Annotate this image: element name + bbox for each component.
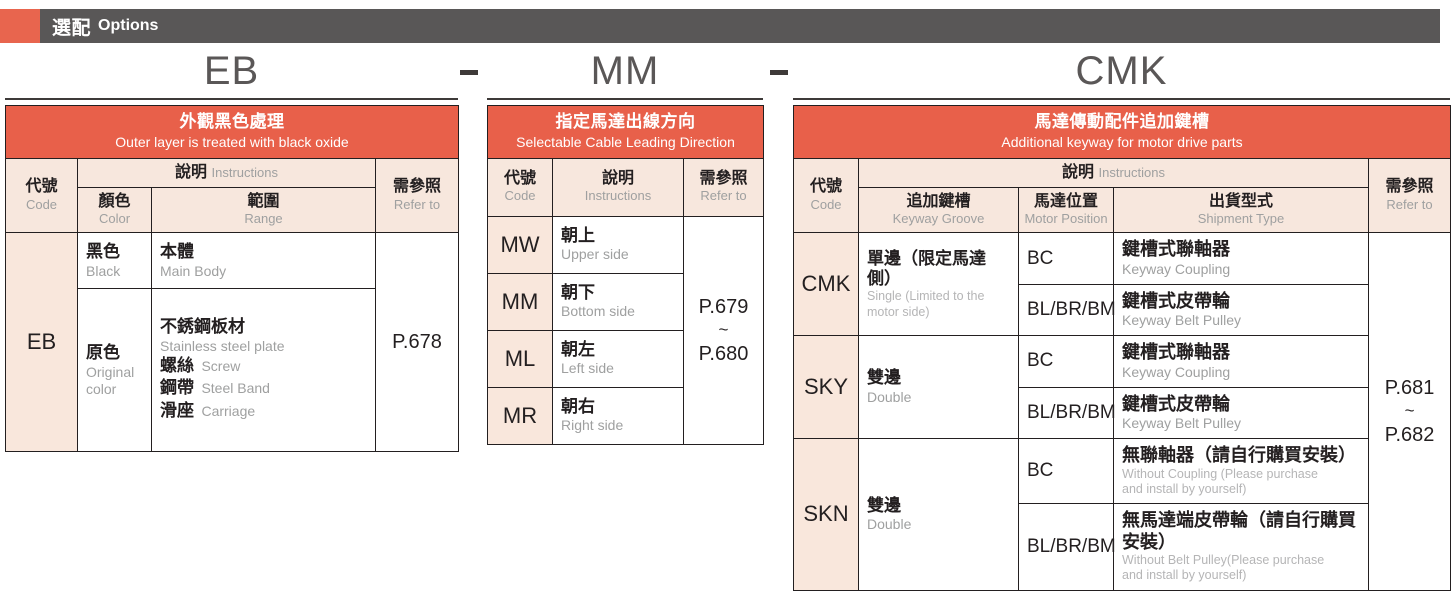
col-header-color: 顏色 Color xyxy=(78,188,152,233)
col-header-instructions-cjk: 說明 xyxy=(1062,164,1094,181)
table-cmk-header-en: Additional keyway for motor drive parts xyxy=(798,134,1446,150)
table-row: MW 朝上 Upper side P.679 ~ P.680 xyxy=(488,216,764,273)
range-item-cjk: 滑座 xyxy=(160,401,194,420)
cell-direction-bottom-en: Bottom side xyxy=(561,303,675,320)
cell-shipment-type-cjk: 鍵槽式皮帶輪 xyxy=(1122,394,1360,416)
cell-keyway-skn-en: Double xyxy=(867,516,1010,533)
cell-motor-position: BC xyxy=(1019,336,1114,387)
col-header-refer: 需參照 Refer to xyxy=(1369,158,1451,233)
cell-direction-right: 朝右 Right side xyxy=(553,387,684,444)
col-header-code-en: Code xyxy=(797,198,855,213)
col-header-color-cjk: 顏色 xyxy=(81,193,148,211)
code-title-row: EB MM CMK xyxy=(0,48,1454,100)
col-header-instructions: 說明 Instructions xyxy=(859,158,1369,187)
cell-shipment-type-en: Keyway Belt Pulley xyxy=(1122,415,1360,432)
table-cmk-main-header: 馬達傳動配件追加鍵槽 Additional keyway for motor d… xyxy=(794,106,1451,159)
range-item: 不銹鋼板材 Stainless steel plate xyxy=(160,317,367,354)
cell-color-black-en: Black xyxy=(86,263,143,280)
cell-shipment-type-en2: and install by yourself) xyxy=(1122,482,1360,497)
cell-code-mw: MW xyxy=(488,216,553,273)
cell-color-original-en2: color xyxy=(86,381,143,398)
cell-shipment-type-cjk: 無聯軸器（請自行購買安裝） xyxy=(1122,445,1360,467)
cell-direction-upper-en: Upper side xyxy=(561,246,675,263)
cell-color-black: 黑色 Black xyxy=(78,233,152,289)
col-header-instructions: 說明 Instructions xyxy=(78,158,376,187)
col-header-refer-en: Refer to xyxy=(1372,198,1447,213)
col-header-code: 代號 Code xyxy=(794,158,859,233)
cell-color-original-cjk: 原色 xyxy=(86,343,143,363)
col-header-refer-en: Refer to xyxy=(687,189,760,204)
cell-direction-bottom: 朝下 Bottom side xyxy=(553,273,684,330)
cell-direction-right-cjk: 朝右 xyxy=(561,397,675,417)
cell-keyway-sky: 雙邊 Double xyxy=(859,336,1019,439)
cell-keyway-cmk-cjk: 單邊（限定馬達側） xyxy=(867,249,1010,290)
cell-direction-bottom-cjk: 朝下 xyxy=(561,283,675,303)
cell-motor-position: BL/BR/BM xyxy=(1019,387,1114,438)
table-row: EB 黑色 Black 本體 Main Body P.678 xyxy=(6,233,459,289)
cell-refer-cmk-tilde: ~ xyxy=(1369,400,1450,423)
col-header-shipment-type-en: Shipment Type xyxy=(1117,212,1365,227)
banner-accent-block xyxy=(0,9,40,43)
col-header-instructions-cjk: 說明 xyxy=(175,164,207,181)
col-header-range-en: Range xyxy=(155,212,372,227)
range-item-cjk: 鋼帶 xyxy=(160,378,194,397)
table-row: 外觀黑色處理 Outer layer is treated with black… xyxy=(6,106,459,159)
code-title-eb-text: EB xyxy=(204,51,259,91)
table-eb-header-cjk: 外觀黑色處理 xyxy=(10,112,454,132)
col-header-code: 代號 Code xyxy=(488,158,553,216)
cell-keyway-sky-cjk: 雙邊 xyxy=(867,368,1010,388)
cell-keyway-cmk: 單邊（限定馬達側） Single (Limited to the motor s… xyxy=(859,233,1019,336)
cell-keyway-skn: 雙邊 Double xyxy=(859,438,1019,590)
cell-shipment-type-cjk: 鍵槽式聯軸器 xyxy=(1122,342,1360,364)
table-row: 代號 Code 說明 Instructions 需參照 Refer to xyxy=(794,158,1451,187)
cell-shipment-type: 鍵槽式皮帶輪 Keyway Belt Pulley xyxy=(1114,387,1369,438)
cell-refer-cmk: P.681 ~ P.682 xyxy=(1369,233,1451,590)
cell-shipment-type-cjk: 鍵槽式聯軸器 xyxy=(1122,239,1360,261)
cell-color-original-en: Original xyxy=(86,364,143,381)
cell-direction-left: 朝左 Left side xyxy=(553,330,684,387)
cell-range-main-body: 本體 Main Body xyxy=(152,233,376,289)
code-title-eb: EB xyxy=(5,48,458,100)
table-mm-header-en: Selectable Cable Leading Direction xyxy=(492,134,759,150)
cell-refer-cmk-line1: P.681 xyxy=(1369,376,1450,400)
col-header-instructions-cjk: 說明 xyxy=(556,170,680,188)
cell-shipment-type: 鍵槽式聯軸器 Keyway Coupling xyxy=(1114,336,1369,387)
table-eb: 外觀黑色處理 Outer layer is treated with black… xyxy=(5,105,459,452)
cell-direction-left-en: Left side xyxy=(561,360,675,377)
col-header-keyway-groove-en: Keyway Groove xyxy=(862,212,1015,227)
table-row: 追加鍵槽 Keyway Groove 馬達位置 Motor Position 出… xyxy=(794,188,1451,233)
cell-shipment-type-en: Keyway Belt Pulley xyxy=(1122,312,1360,329)
col-header-instructions: 說明 Instructions xyxy=(553,158,684,216)
banner-bar xyxy=(40,9,1440,43)
range-item-en: Carriage xyxy=(201,403,255,419)
cell-keyway-cmk-en: Single (Limited to the xyxy=(867,289,1010,304)
options-banner: 選配 Options xyxy=(0,9,1440,43)
cell-motor-position: BL/BR/BM xyxy=(1019,504,1114,591)
cell-code-ml: ML xyxy=(488,330,553,387)
range-item: 滑座 Carriage xyxy=(160,400,367,423)
range-item-cjk: 螺絲 xyxy=(160,356,194,375)
table-eb-main-header: 外觀黑色處理 Outer layer is treated with black… xyxy=(6,106,459,159)
col-header-shipment-type-cjk: 出貨型式 xyxy=(1117,193,1365,211)
code-title-mm-text: MM xyxy=(591,51,660,91)
cell-shipment-type-en: Keyway Coupling xyxy=(1122,364,1360,381)
col-header-refer-en: Refer to xyxy=(379,198,455,213)
col-header-keyway-groove-cjk: 追加鍵槽 xyxy=(862,193,1015,211)
cell-motor-position: BC xyxy=(1019,233,1114,284)
cell-code-mm: MM xyxy=(488,273,553,330)
col-header-refer: 需參照 Refer to xyxy=(684,158,764,216)
cell-direction-upper-cjk: 朝上 xyxy=(561,226,675,246)
cell-keyway-cmk-en2: motor side) xyxy=(867,305,1010,320)
cell-code-mr: MR xyxy=(488,387,553,444)
table-row: 馬達傳動配件追加鍵槽 Additional keyway for motor d… xyxy=(794,106,1451,159)
col-header-instructions-en: Instructions xyxy=(1098,165,1164,180)
cell-refer-mm-line1: P.679 xyxy=(684,295,763,319)
cell-shipment-type-cjk: 無馬達端皮帶輪（請自行購買安裝） xyxy=(1122,510,1360,553)
banner-title: 選配 Options xyxy=(52,9,158,43)
col-header-range: 範圍 Range xyxy=(152,188,376,233)
col-header-code: 代號 Code xyxy=(6,158,78,233)
col-header-keyway-groove: 追加鍵槽 Keyway Groove xyxy=(859,188,1019,233)
cell-shipment-type-en: Without Coupling (Please purchase xyxy=(1122,467,1360,482)
col-header-color-en: Color xyxy=(81,212,148,227)
cell-color-original: 原色 Original color xyxy=(78,289,152,452)
cell-refer-mm-line2: P.680 xyxy=(684,342,763,366)
table-cmk-header-cjk: 馬達傳動配件追加鍵槽 xyxy=(798,112,1446,132)
col-header-code-en: Code xyxy=(491,189,549,204)
cell-refer-cmk-line2: P.682 xyxy=(1369,423,1450,447)
table-eb-header-en: Outer layer is treated with black oxide xyxy=(10,134,454,150)
col-header-motor-position-en: Motor Position xyxy=(1022,212,1110,227)
separator-dash-2 xyxy=(770,70,788,75)
cell-keyway-sky-en: Double xyxy=(867,389,1010,406)
table-row: 代號 Code 說明 Instructions 需參照 Refer to xyxy=(488,158,764,216)
cell-shipment-type-cjk: 鍵槽式皮帶輪 xyxy=(1122,291,1360,313)
col-header-range-cjk: 範圍 xyxy=(155,193,372,211)
range-item-en: Steel Band xyxy=(201,380,270,396)
cell-code-skn: SKN xyxy=(794,438,859,590)
cell-shipment-type-en2: and install by yourself) xyxy=(1122,568,1360,583)
col-header-instructions-en: Instructions xyxy=(211,165,277,180)
cell-shipment-type: 鍵槽式聯軸器 Keyway Coupling xyxy=(1114,233,1369,284)
table-row: SKY 雙邊 Double BC 鍵槽式聯軸器 Keyway Coupling xyxy=(794,336,1451,387)
col-header-code-cjk: 代號 xyxy=(797,178,855,196)
col-header-motor-position: 馬達位置 Motor Position xyxy=(1019,188,1114,233)
table-row: 指定馬達出線方向 Selectable Cable Leading Direct… xyxy=(488,106,764,159)
banner-title-cjk: 選配 xyxy=(52,13,91,40)
range-item: 螺絲 Screw xyxy=(160,355,367,378)
table-mm: 指定馬達出線方向 Selectable Cable Leading Direct… xyxy=(487,105,764,445)
table-row: 代號 Code 說明 Instructions 需參照 Refer to xyxy=(6,158,459,187)
cell-color-black-cjk: 黑色 xyxy=(86,242,143,262)
cell-direction-left-cjk: 朝左 xyxy=(561,340,675,360)
cell-keyway-skn-cjk: 雙邊 xyxy=(867,496,1010,516)
cell-range-original: 不銹鋼板材 Stainless steel plate 螺絲 Screw 鋼帶 … xyxy=(152,289,376,452)
range-item-en: Stainless steel plate xyxy=(160,338,367,355)
code-title-cmk-text: CMK xyxy=(1076,51,1168,91)
table-mm-main-header: 指定馬達出線方向 Selectable Cable Leading Direct… xyxy=(488,106,764,159)
cell-shipment-type-en: Keyway Coupling xyxy=(1122,261,1360,278)
separator-dash-1 xyxy=(460,70,478,75)
cell-refer-eb: P.678 xyxy=(376,233,459,452)
cell-shipment-type: 無馬達端皮帶輪（請自行購買安裝） Without Belt Pulley(Ple… xyxy=(1114,504,1369,591)
col-header-shipment-type: 出貨型式 Shipment Type xyxy=(1114,188,1369,233)
cell-refer-mm: P.679 ~ P.680 xyxy=(684,216,764,444)
cell-refer-mm-tilde: ~ xyxy=(684,319,763,342)
col-header-refer: 需參照 Refer to xyxy=(376,158,459,233)
col-header-refer-cjk: 需參照 xyxy=(1372,178,1447,196)
cell-motor-position: BC xyxy=(1019,438,1114,503)
banner-title-en: Options xyxy=(98,17,158,35)
col-header-refer-cjk: 需參照 xyxy=(379,178,455,196)
code-title-cmk: CMK xyxy=(793,48,1450,100)
range-item-en: Screw xyxy=(201,358,240,374)
col-header-code-cjk: 代號 xyxy=(491,170,549,188)
table-row: CMK 單邊（限定馬達側） Single (Limited to the mot… xyxy=(794,233,1451,284)
col-header-refer-cjk: 需參照 xyxy=(687,170,760,188)
code-title-mm: MM xyxy=(487,48,763,100)
col-header-code-en: Code xyxy=(9,198,74,213)
col-header-code-cjk: 代號 xyxy=(9,178,74,196)
cell-code-cmk: CMK xyxy=(794,233,859,336)
cell-motor-position: BL/BR/BM xyxy=(1019,284,1114,335)
table-row: SKN 雙邊 Double BC 無聯軸器（請自行購買安裝） Without C… xyxy=(794,438,1451,503)
range-item-cjk: 不銹鋼板材 xyxy=(160,317,367,337)
cell-range-main-body-cjk: 本體 xyxy=(160,242,367,262)
range-item: 鋼帶 Steel Band xyxy=(160,377,367,400)
col-header-motor-position-cjk: 馬達位置 xyxy=(1022,193,1110,211)
table-mm-header-cjk: 指定馬達出線方向 xyxy=(492,112,759,132)
cell-range-main-body-en: Main Body xyxy=(160,263,367,280)
cell-shipment-type: 鍵槽式皮帶輪 Keyway Belt Pulley xyxy=(1114,284,1369,335)
cell-direction-right-en: Right side xyxy=(561,417,675,434)
cell-code-eb: EB xyxy=(6,233,78,452)
cell-code-sky: SKY xyxy=(794,336,859,439)
table-cmk: 馬達傳動配件追加鍵槽 Additional keyway for motor d… xyxy=(793,105,1451,591)
cell-shipment-type: 無聯軸器（請自行購買安裝） Without Coupling (Please p… xyxy=(1114,438,1369,503)
cell-direction-upper: 朝上 Upper side xyxy=(553,216,684,273)
col-header-instructions-en: Instructions xyxy=(556,189,680,204)
